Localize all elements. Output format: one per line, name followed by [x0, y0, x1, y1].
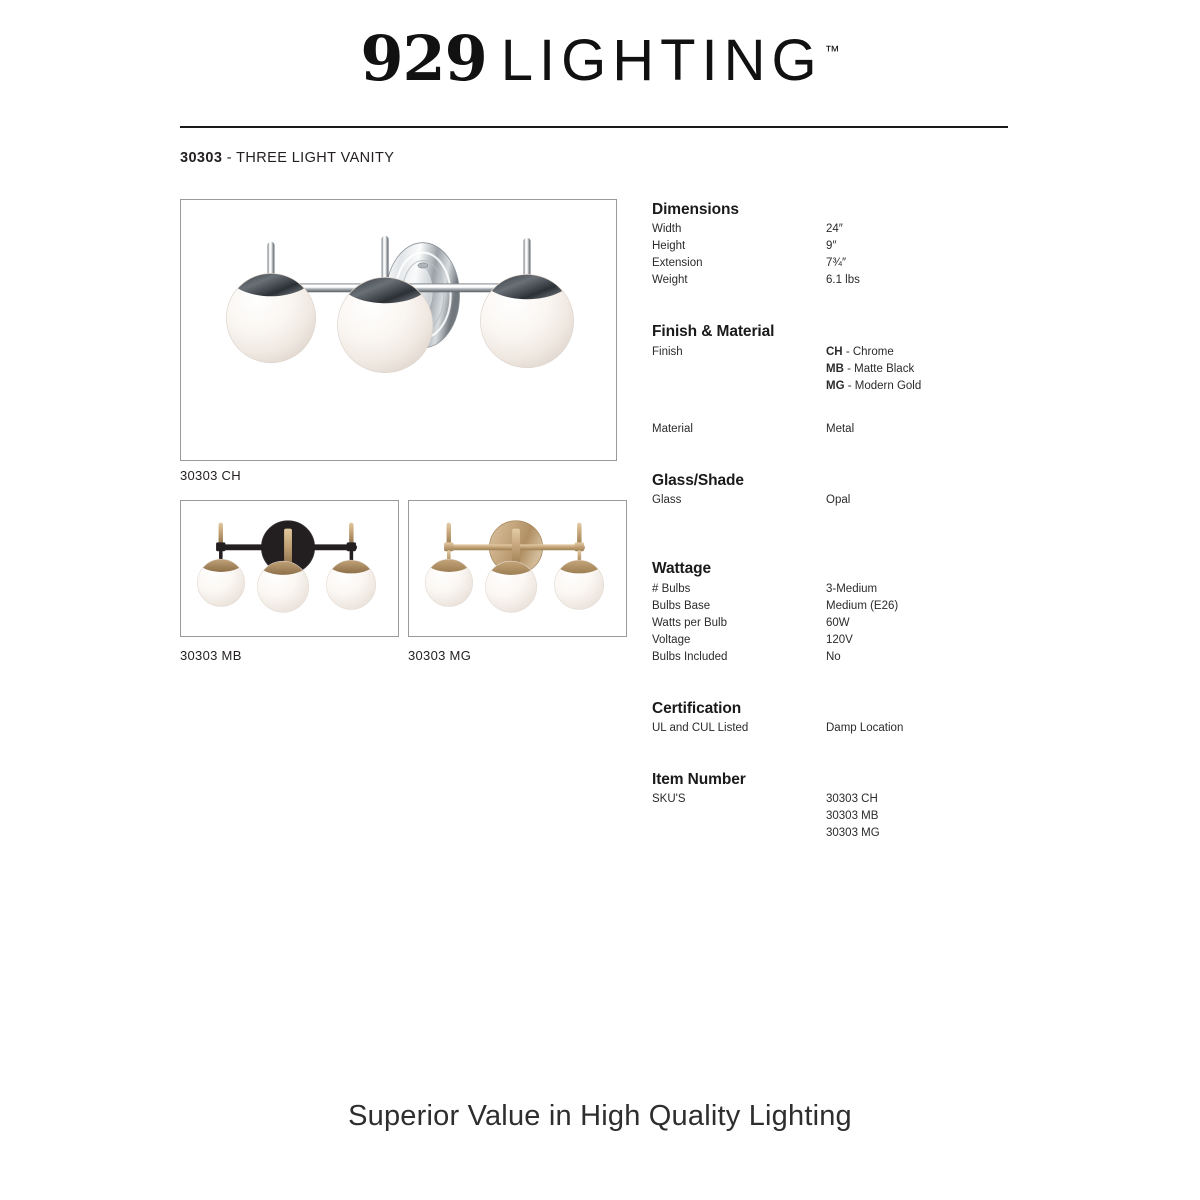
finish-name-mg: Modern Gold	[855, 380, 921, 392]
spec-value-watts-per-bulb: 60W	[826, 615, 850, 632]
spec-row-watts-per-bulb: Watts per Bulb60W	[652, 615, 1042, 632]
header-divider	[180, 126, 1008, 128]
spec-label-width: Width	[652, 221, 826, 238]
spec-row-extension: Extension7¾″	[652, 255, 1042, 272]
spec-section-item-number: Item Number SKU'S30303 CH 30303 MB 30303…	[652, 770, 1042, 842]
trademark-symbol: ™	[825, 43, 840, 60]
spec-section-dimensions: Dimensions Width24″ Height9″ Extension7¾…	[652, 200, 1042, 289]
spec-value-ul-cul: Damp Location	[826, 720, 903, 737]
spec-row-weight: Weight6.1 lbs	[652, 272, 1042, 289]
finish-dash-ch: -	[843, 346, 853, 358]
spec-row-bulbs-base: Bulbs BaseMedium (E26)	[652, 598, 1042, 615]
spec-label-skus: SKU'S	[652, 791, 826, 808]
spec-label-glass: Glass	[652, 492, 826, 509]
product-image-matte-black	[180, 500, 399, 637]
finish-code-mg: MG	[826, 380, 845, 392]
finish-code-mb: MB	[826, 363, 844, 375]
spec-row-sku-mb: 30303 MB	[652, 808, 1042, 825]
spec-value-finish-ch: CH - Chrome	[826, 344, 894, 361]
spec-heading-dimensions: Dimensions	[652, 200, 1042, 219]
spec-row-num-bulbs: # Bulbs3-Medium	[652, 581, 1042, 598]
spec-heading-glass-shade: Glass/Shade	[652, 471, 1042, 490]
spec-label-voltage: Voltage	[652, 632, 826, 649]
spec-value-voltage: 120V	[826, 632, 853, 649]
spec-label-ul-cul: UL and CUL Listed	[652, 720, 826, 737]
spec-label-finish: Finish	[652, 344, 826, 361]
spec-label-watts-per-bulb: Watts per Bulb	[652, 615, 826, 632]
spec-value-sku-mb: 30303 MB	[826, 808, 878, 825]
spec-row-sku-mg: 30303 MG	[652, 825, 1042, 842]
spec-heading-finish-material: Finish & Material	[652, 322, 1042, 341]
product-sku: 30303	[180, 150, 222, 166]
brand-word: LIGHTING	[501, 28, 823, 93]
spec-value-glass: Opal	[826, 492, 850, 509]
spec-section-finish-material: Finish & Material FinishCH - Chrome MB -…	[652, 322, 1042, 437]
spec-value-weight: 6.1 lbs	[826, 272, 860, 289]
spec-label-material: Material	[652, 421, 826, 438]
spec-label-extension: Extension	[652, 255, 826, 272]
spec-value-bulbs-base: Medium (E26)	[826, 598, 898, 615]
spec-section-certification: Certification UL and CUL ListedDamp Loca…	[652, 699, 1042, 737]
spec-row-glass: GlassOpal	[652, 492, 1042, 509]
specifications-panel: Dimensions Width24″ Height9″ Extension7¾…	[652, 200, 1042, 842]
product-image-chrome	[180, 199, 617, 461]
spec-label-bulbs-included: Bulbs Included	[652, 649, 826, 666]
brand-logo: 929LIGHTING™	[0, 28, 1200, 90]
spec-value-num-bulbs: 3-Medium	[826, 581, 877, 598]
caption-modern-gold: 30303 MG	[408, 648, 471, 663]
product-name: - THREE LIGHT VANITY	[222, 150, 394, 166]
spec-value-sku-ch: 30303 CH	[826, 791, 878, 808]
fixture-illustration-chrome	[181, 200, 616, 460]
finish-dash-mg: -	[845, 380, 855, 392]
finish-dash-mb: -	[844, 363, 854, 375]
spec-value-height: 9″	[826, 238, 836, 255]
spec-row-width: Width24″	[652, 221, 1042, 238]
footer-tagline: Superior Value in High Quality Lighting	[0, 1100, 1200, 1133]
spec-row-ul-cul: UL and CUL ListedDamp Location	[652, 720, 1042, 737]
spec-value-sku-mg: 30303 MG	[826, 825, 880, 842]
finish-name-mb: Matte Black	[854, 363, 914, 375]
spec-heading-wattage: Wattage	[652, 559, 1042, 578]
fixture-illustration-matte-black	[181, 501, 398, 636]
spec-label-bulbs-base: Bulbs Base	[652, 598, 826, 615]
spec-row-material: MaterialMetal	[652, 421, 1042, 438]
spec-row-bulbs-included: Bulbs IncludedNo	[652, 649, 1042, 666]
spec-row-finish-mb: MB - Matte Black	[652, 361, 1042, 378]
spec-section-wattage: Wattage # Bulbs3-Medium Bulbs BaseMedium…	[652, 559, 1042, 665]
spec-label-num-bulbs: # Bulbs	[652, 581, 826, 598]
spec-heading-certification: Certification	[652, 699, 1042, 718]
spec-value-bulbs-included: No	[826, 649, 841, 666]
caption-chrome: 30303 CH	[180, 468, 241, 483]
finish-code-ch: CH	[826, 346, 843, 358]
spec-value-material: Metal	[826, 421, 854, 438]
spec-section-glass-shade: Glass/Shade GlassOpal	[652, 471, 1042, 509]
spec-row-finish-mg: MG - Modern Gold	[652, 378, 1042, 395]
spec-row-voltage: Voltage120V	[652, 632, 1042, 649]
page-title: 30303 - THREE LIGHT VANITY	[180, 150, 394, 166]
spec-row-skus: SKU'S30303 CH	[652, 791, 1042, 808]
spec-value-width: 24″	[826, 221, 843, 238]
finish-name-ch: Chrome	[853, 346, 894, 358]
spec-value-finish-mb: MB - Matte Black	[826, 361, 914, 378]
product-image-modern-gold	[408, 500, 627, 637]
spec-heading-item-number: Item Number	[652, 770, 1042, 789]
spec-label-weight: Weight	[652, 272, 826, 289]
fixture-illustration-modern-gold	[409, 501, 626, 636]
spec-row-height: Height9″	[652, 238, 1042, 255]
brand-number: 929	[360, 22, 486, 95]
spec-value-extension: 7¾″	[826, 255, 846, 272]
spec-row-finish: FinishCH - Chrome	[652, 344, 1042, 361]
caption-matte-black: 30303 MB	[180, 648, 242, 663]
spec-label-height: Height	[652, 238, 826, 255]
spec-value-finish-mg: MG - Modern Gold	[826, 378, 921, 395]
